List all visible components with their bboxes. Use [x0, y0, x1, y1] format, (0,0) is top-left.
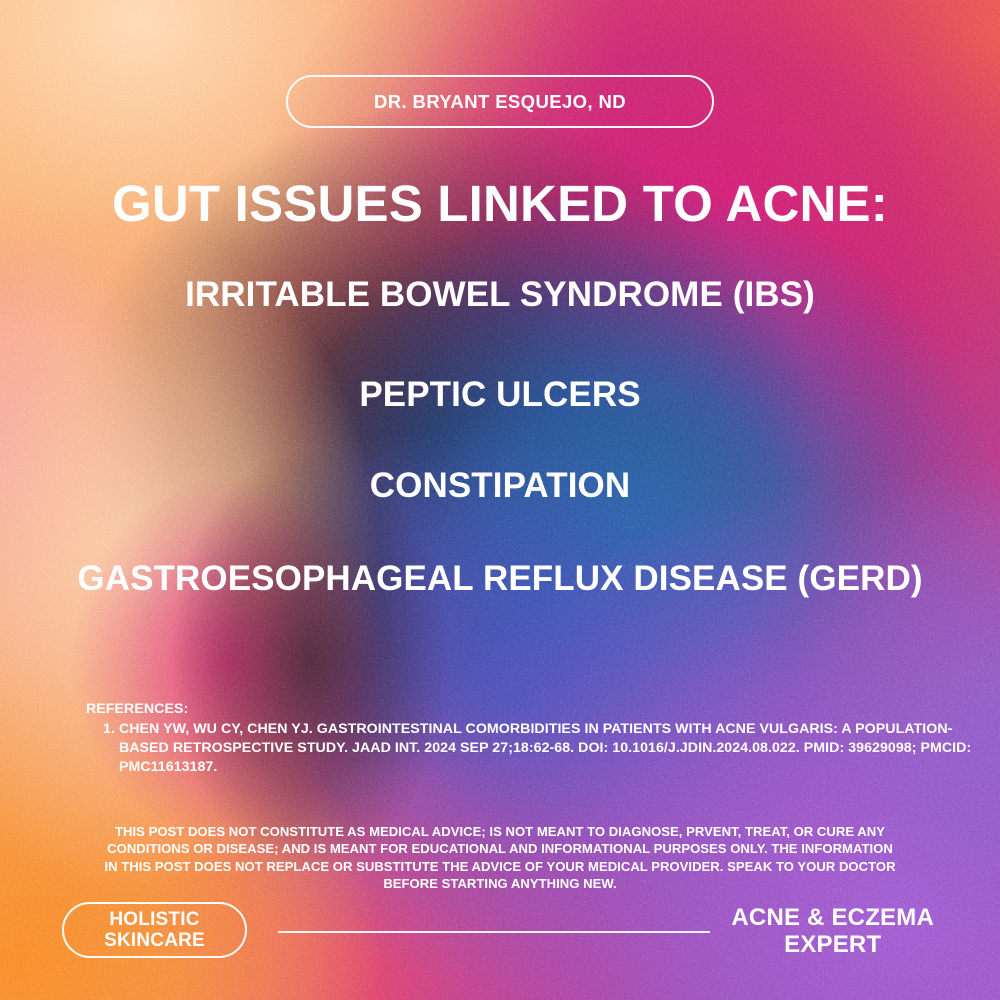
footer-tagline-line-1: ACNE & ECZEMA: [731, 904, 934, 931]
gut-issues-list: IRRITABLE BOWEL SYNDROME (IBS) PEPTIC UL…: [0, 274, 1000, 601]
list-item: IRRITABLE BOWEL SYNDROME (IBS): [0, 274, 1000, 317]
poster-canvas: DR. BRYANT ESQUEJO, ND GUT ISSUES LINKED…: [0, 0, 1000, 1000]
brand-badge-line-1: HOLISTIC: [109, 909, 199, 930]
footer-tagline: ACNE & ECZEMA EXPERT: [731, 904, 934, 959]
author-badge-label: DR. BRYANT ESQUEJO, ND: [374, 91, 626, 113]
medical-disclaimer: THIS POST DOES NOT CONSTITUTE AS MEDICAL…: [100, 823, 900, 893]
list-item: CONSTIPATION: [0, 465, 1000, 508]
brand-badge-line-2: SKINCARE: [104, 930, 205, 951]
references-heading: REFERENCES:: [86, 700, 1000, 719]
reference-entry: 1. CHEN YW, WU CY, CHEN YJ. GASTROINTEST…: [86, 720, 1000, 777]
reference-text: CHEN YW, WU CY, CHEN YJ. GASTROINTESTINA…: [119, 720, 1000, 777]
page-title: GUT ISSUES LINKED TO ACNE:: [0, 177, 1000, 231]
poster-footer: HOLISTIC SKINCARE ACNE & ECZEMA EXPERT: [0, 902, 1000, 960]
author-badge: DR. BRYANT ESQUEJO, ND: [286, 75, 714, 128]
list-item: PEPTIC ULCERS: [0, 374, 1000, 417]
footer-divider: [278, 931, 710, 933]
references-block: REFERENCES: 1. CHEN YW, WU CY, CHEN YJ. …: [86, 700, 1000, 777]
list-item: GASTROESOPHAGEAL REFLUX DISEASE (GERD): [0, 558, 1000, 601]
brand-badge: HOLISTIC SKINCARE: [62, 902, 247, 958]
poster-content: DR. BRYANT ESQUEJO, ND GUT ISSUES LINKED…: [0, 0, 1000, 1000]
reference-number: 1.: [103, 720, 115, 777]
footer-tagline-line-2: EXPERT: [731, 931, 934, 958]
